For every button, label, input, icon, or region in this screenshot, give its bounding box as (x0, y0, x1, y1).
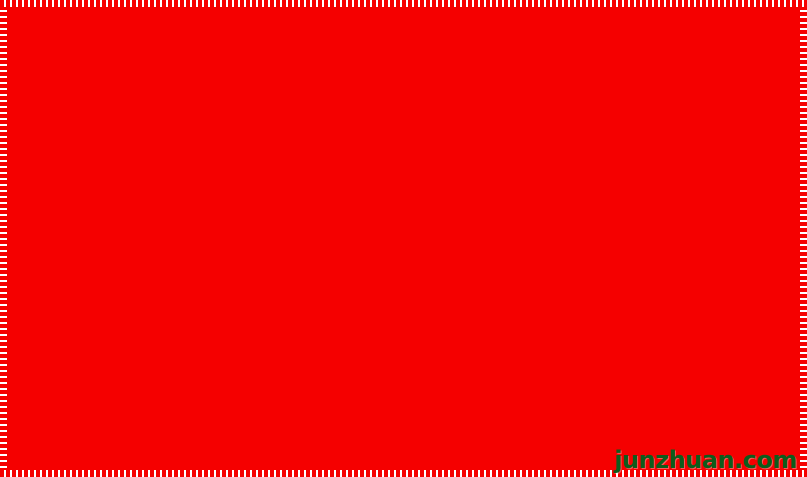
subtitle-char: 提 (428, 281, 476, 342)
clover-icon (34, 378, 86, 430)
poster-title: 人生感悟 精彩分享 (166, 116, 678, 226)
clover-icon (706, 112, 768, 174)
clover-icon (74, 120, 136, 182)
subtitle-char: 顿 (655, 281, 678, 342)
subtitle-char: 生 (607, 281, 655, 342)
poster-canvas: 人生感悟 精彩分享 每日提醒人生顿悟 辽宁军转欢迎您 图/文：沈阳第二故乡 ju… (0, 0, 807, 477)
poster-background: 人生感悟 精彩分享 每日提醒人生顿悟 辽宁军转欢迎您 (28, 28, 779, 449)
clover-icon (28, 28, 148, 164)
inner-frame: 人生感悟 精彩分享 每日提醒人生顿悟 辽宁军转欢迎您 (152, 62, 690, 434)
subtitle-char: 醒 (476, 281, 524, 342)
subtitle-char: 人 (559, 281, 607, 342)
gradient-border-top (7, 7, 800, 28)
poster-caption: 图/文：沈阳第二故乡 (0, 424, 807, 443)
poster-subtitle: 每日提醒人生顿悟 (166, 281, 678, 342)
site-watermark: junzhuan.com (614, 446, 797, 474)
subtitle-char: 每 (332, 281, 380, 342)
inner-frame-surface: 人生感悟 精彩分享 每日提醒人生顿悟 辽宁军转欢迎您 (166, 74, 678, 420)
subtitle-char: 日 (380, 281, 428, 342)
poster-welcome-line: 辽宁军转欢迎您 (166, 414, 678, 420)
clover-icon (716, 174, 772, 230)
poster-title-text: 人生感悟 精彩分享 (216, 111, 626, 196)
